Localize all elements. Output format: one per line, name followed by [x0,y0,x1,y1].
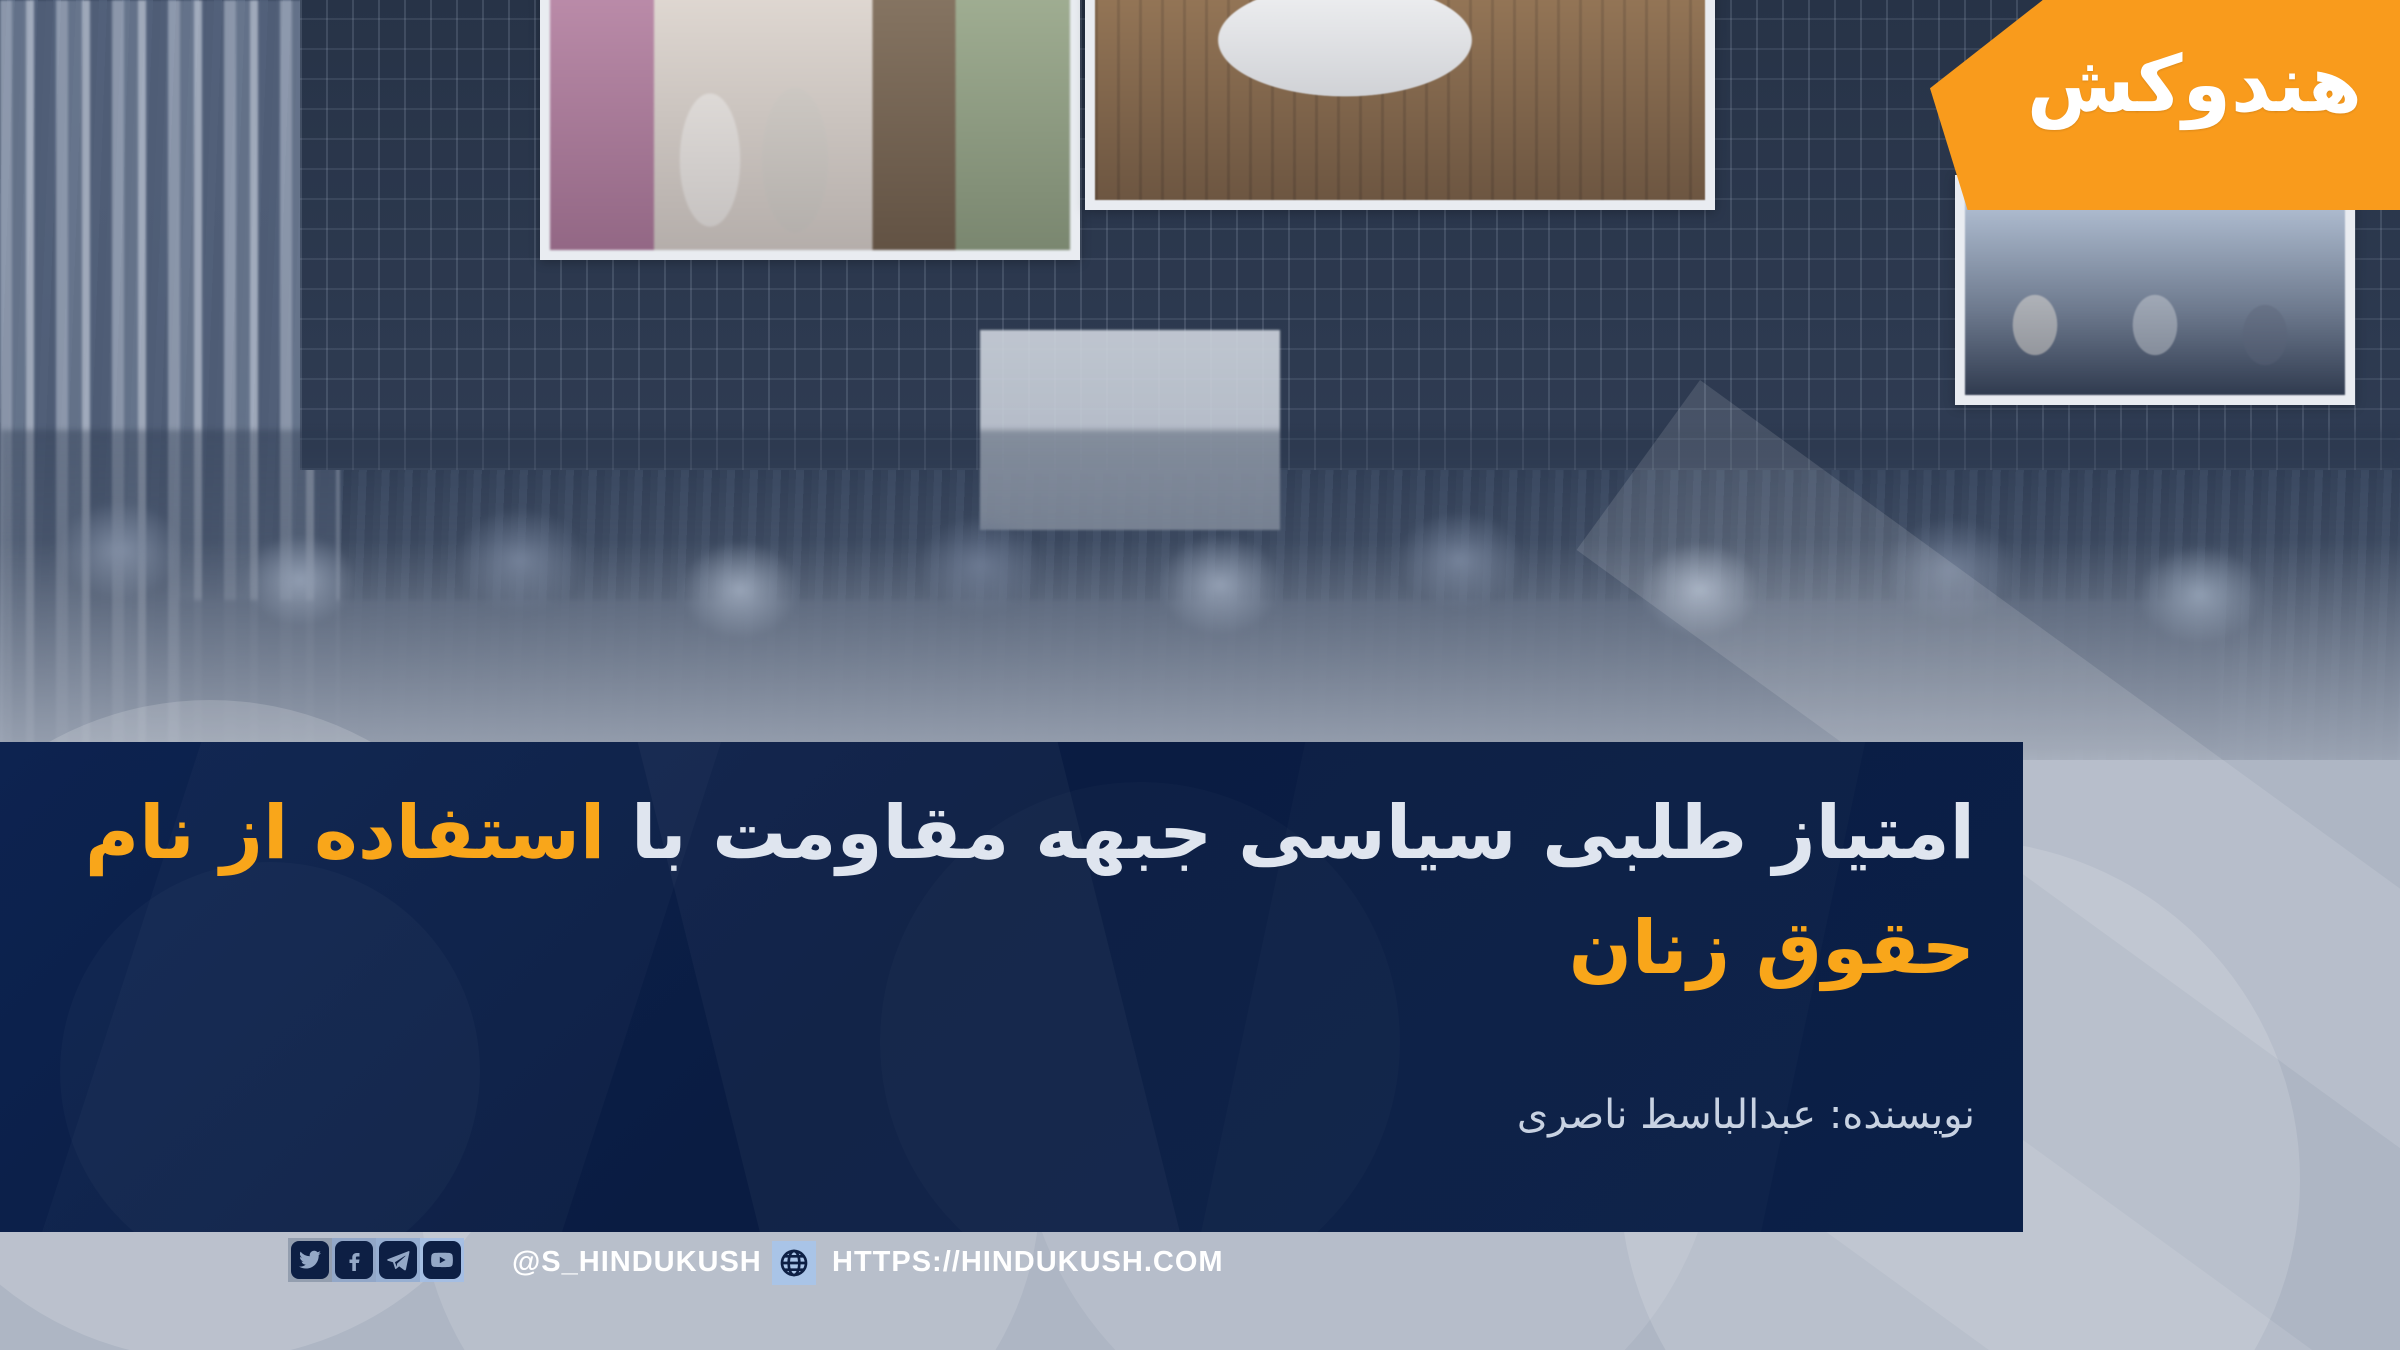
twitter-icon-box [291,1241,329,1279]
website-url[interactable]: HTTPS://HINDUKUSH.COM [832,1246,1224,1279]
brand-logo-banner[interactable]: هندوکش [1930,0,2400,210]
footer-bar: @S_HINDUKUSH HTTPS://HINDUKUSH.COM [0,1232,2400,1350]
photo-panel-center [1085,0,1715,210]
photo-image [1965,185,2345,395]
social-link-telegram[interactable] [376,1238,420,1282]
headline-text: امتیاز طلبی سیاسی جبهه مقاومت با استفاده… [48,776,1975,1005]
headline-line1-highlight: استفاده از [220,790,605,876]
facebook-icon-box [335,1241,373,1279]
photo-image [1095,0,1705,200]
headline-panel: امتیاز طلبی سیاسی جبهه مقاومت با استفاده… [0,742,2023,1232]
social-link-facebook[interactable] [332,1238,376,1282]
logo-wordmark: هندوکش [2027,46,2362,124]
photo-image [550,0,1070,250]
author-byline: نویسنده: عبدالباسط ناصری [1517,1092,1975,1138]
photo-workshop-left [540,0,1080,260]
news-card: هندوکش امتیاز طلبی سیاسی جبهه مقاومت با … [0,0,2400,1350]
globe-icon [778,1247,810,1279]
social-link-twitter[interactable] [288,1238,332,1282]
youtube-icon-box [423,1241,461,1279]
social-link-youtube[interactable] [420,1238,464,1282]
youtube-icon [430,1248,454,1272]
telegram-icon-box [379,1241,417,1279]
social-handle[interactable]: @S_HINDUKUSH [512,1246,762,1279]
social-links [288,1238,464,1282]
twitter-icon [298,1248,322,1272]
telegram-icon [386,1248,410,1272]
logo-wordmark-text: هندوکش [2027,40,2362,130]
website-link[interactable] [772,1241,816,1285]
facebook-icon [342,1248,366,1272]
headline-line1-plain: امتیاز طلبی سیاسی جبهه مقاومت با [605,790,1975,876]
